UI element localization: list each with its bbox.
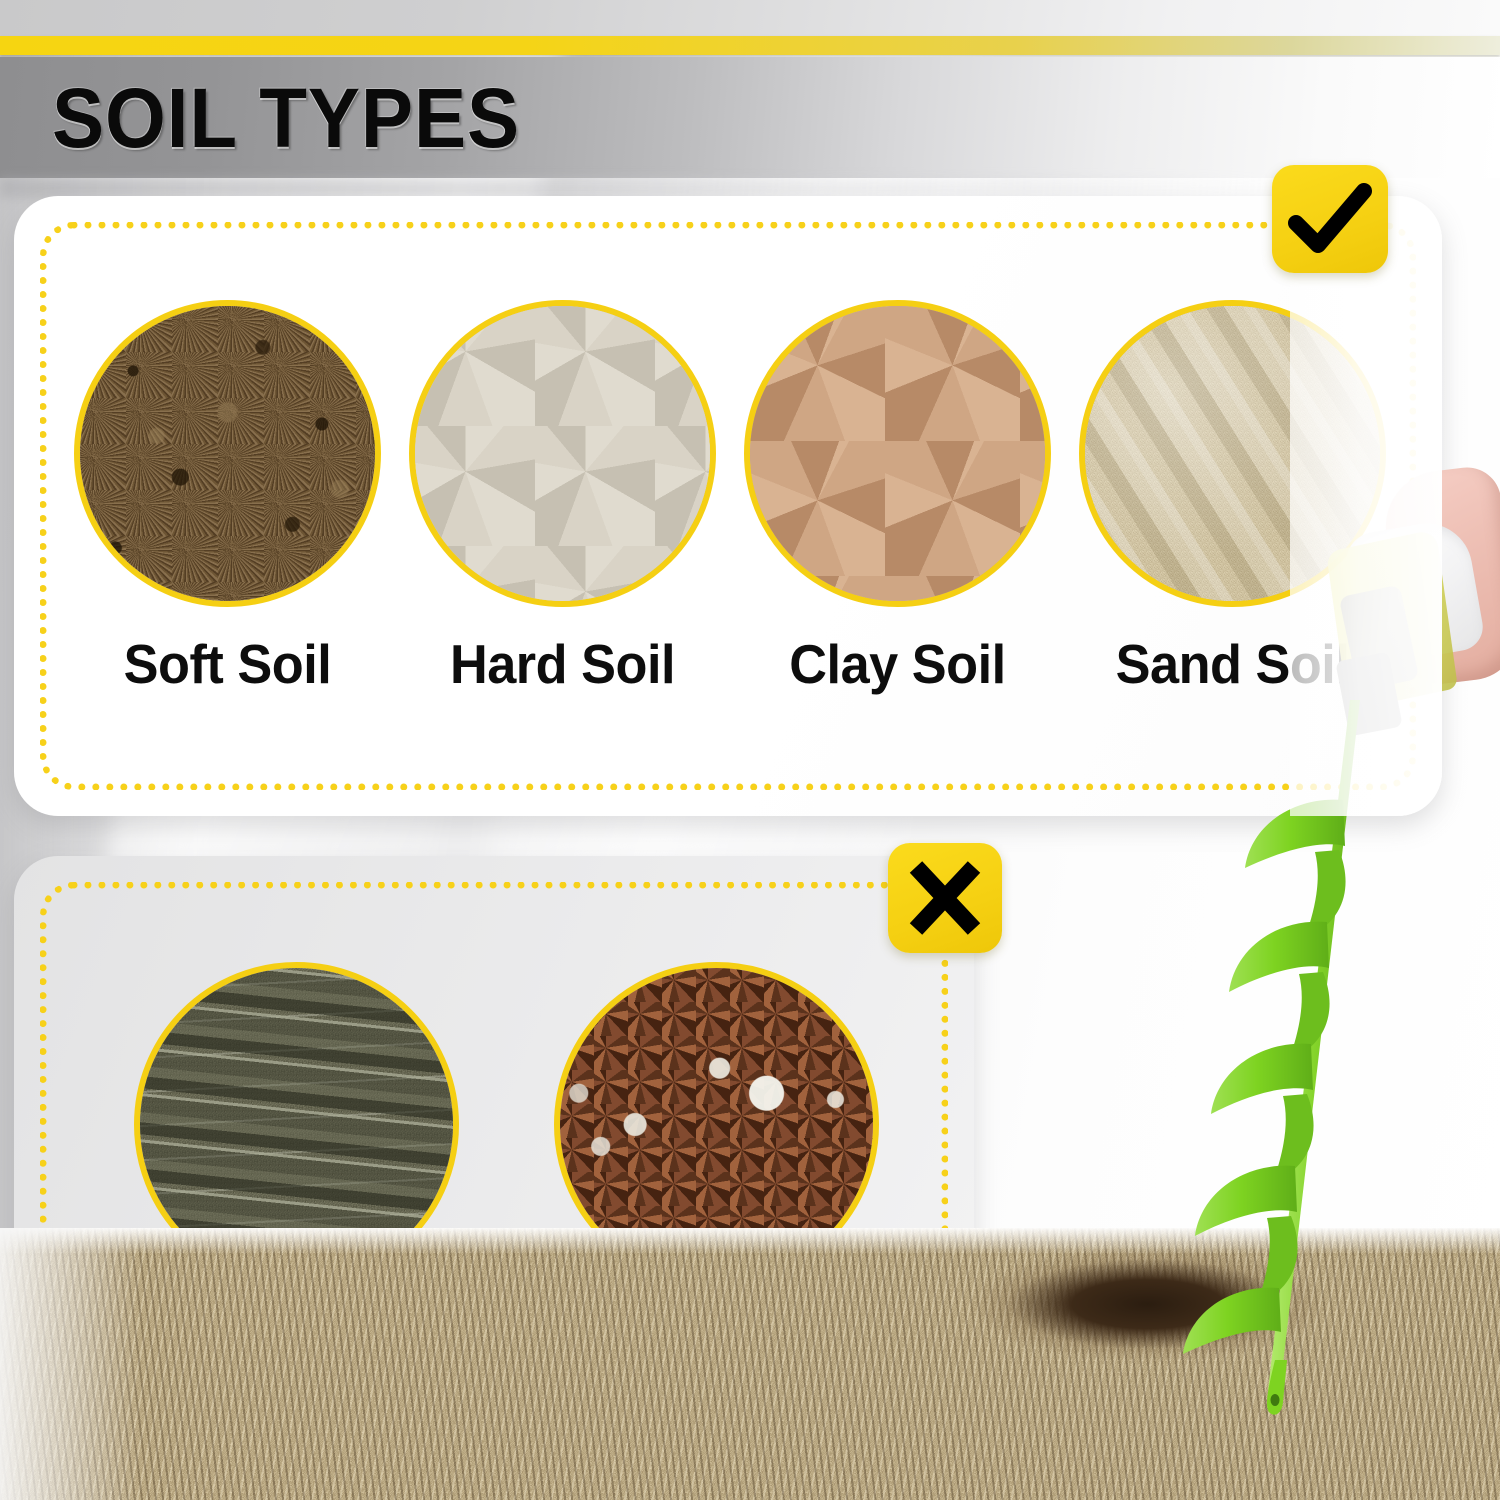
soil-label-clay-soil: Clay Soil: [738, 633, 1056, 695]
list-item[interactable]: Clay Soil: [730, 300, 1065, 695]
soil-label-hard-soil: Hard Soil: [403, 633, 721, 695]
suitable-badge[interactable]: [1272, 165, 1388, 273]
top-yellow-accent-bar: [0, 36, 1500, 55]
cross-icon: [888, 843, 1002, 953]
hard-soil-texture: [415, 306, 710, 601]
page-title: SOIL TYPES: [52, 63, 520, 173]
soil-image-hard-soil: [409, 300, 716, 607]
power-drill-with-hand: [1330, 470, 1500, 730]
clay-soil-texture: [750, 306, 1045, 601]
soil-label-soft-soil: Soft Soil: [68, 633, 386, 695]
check-icon: [1272, 165, 1388, 273]
infographic-canvas: SOIL TYPES Soft Soil Hard Soil Clay Soil: [0, 0, 1500, 1500]
list-item[interactable]: Soft Soil: [60, 300, 395, 695]
list-item[interactable]: Hard Soil: [395, 300, 730, 695]
unsuitable-badge[interactable]: [888, 843, 1002, 953]
ground-left-fade: [0, 1228, 140, 1500]
soil-image-clay-soil: [744, 300, 1051, 607]
suitable-soils-list: Soft Soil Hard Soil Clay Soil Sand Soil: [60, 300, 1400, 695]
soil-image-soft-soil: [74, 300, 381, 607]
spiral-auger-bit: [1155, 700, 1385, 1440]
soft-soil-texture: [80, 306, 375, 601]
top-gray-strip: [0, 0, 1500, 36]
